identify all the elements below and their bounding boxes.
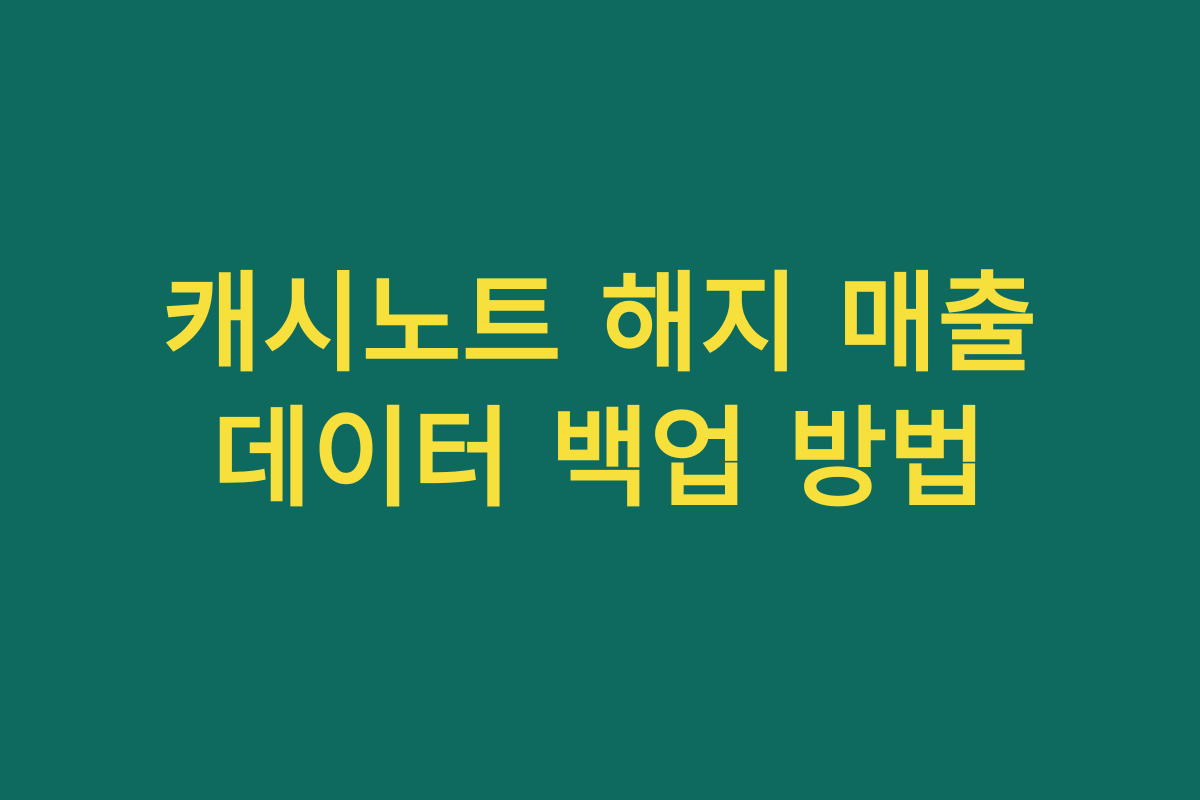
title-banner: 캐시노트 해지 매출 데이터 백업 방법: [0, 0, 1200, 800]
page-title: 캐시노트 해지 매출 데이터 백업 방법: [92, 257, 1108, 527]
headline-block: 캐시노트 해지 매출 데이터 백업 방법: [92, 257, 1108, 527]
